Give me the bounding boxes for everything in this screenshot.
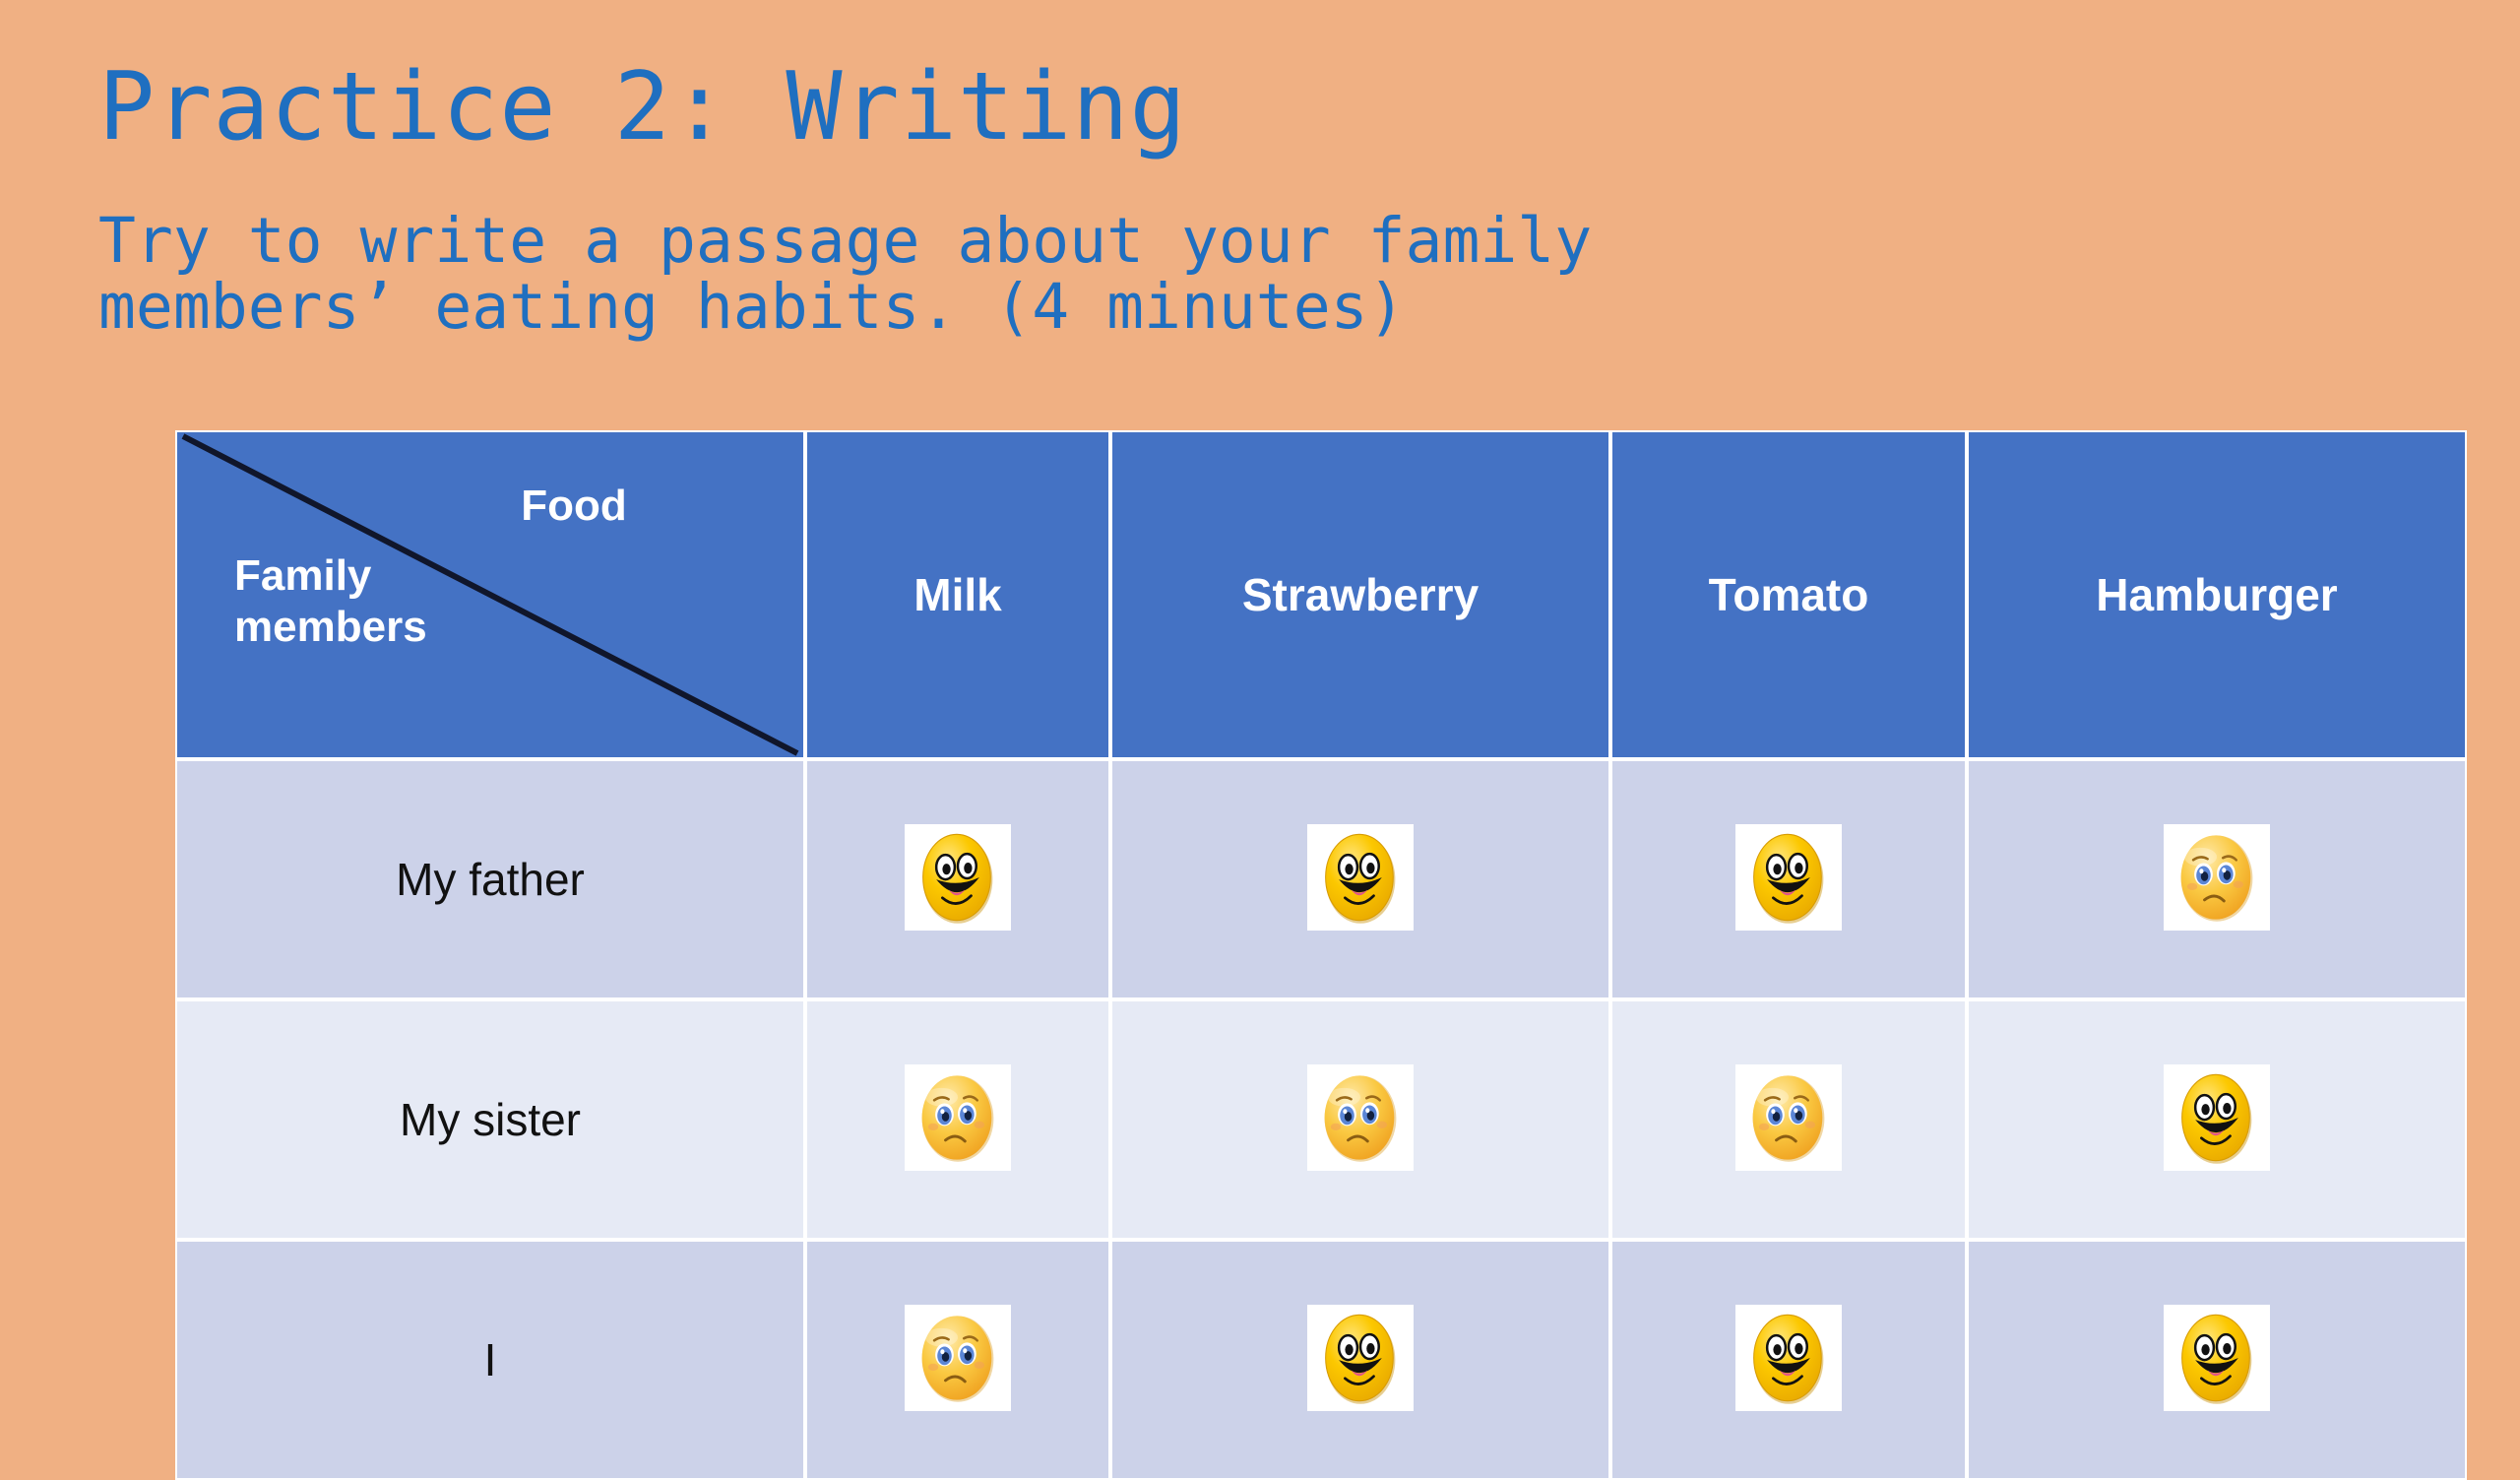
- corner-food-label: Food: [177, 482, 803, 531]
- table-row: My sister: [175, 999, 2467, 1240]
- table-row: I: [175, 1240, 2467, 1480]
- header-row: Food Family members Milk Strawberry Toma…: [175, 430, 2467, 759]
- column-header-tomato: Tomato: [1610, 430, 1967, 759]
- column-header-milk: Milk: [805, 430, 1110, 759]
- cell-father-hamburger: [1967, 759, 2467, 999]
- eating-habits-table-container: Food Family members Milk Strawberry Toma…: [175, 430, 2467, 1480]
- happy-face-icon: [2164, 1305, 2270, 1411]
- happy-face-icon: [1307, 1305, 1414, 1411]
- cell-i-hamburger: [1967, 1240, 2467, 1480]
- table-header: Food Family members Milk Strawberry Toma…: [175, 430, 2467, 759]
- row-label-my-father: My father: [175, 759, 805, 999]
- cell-father-strawberry: [1110, 759, 1610, 999]
- row-label-my-sister: My sister: [175, 999, 805, 1240]
- subtitle-line-2: members’ eating habits. (4 minutes): [98, 271, 1406, 343]
- happy-face-icon: [905, 824, 1011, 931]
- cell-i-milk: [805, 1240, 1110, 1480]
- sad-face-icon: [1735, 1064, 1842, 1171]
- subtitle-line-1: Try to write a passage about your family: [98, 205, 1592, 277]
- happy-face-icon: [1735, 1305, 1842, 1411]
- column-header-strawberry: Strawberry: [1110, 430, 1610, 759]
- corner-header-cell: Food Family members: [175, 430, 805, 759]
- cell-father-tomato: [1610, 759, 1967, 999]
- sad-face-icon: [2164, 824, 2270, 931]
- row-label-i: I: [175, 1240, 805, 1480]
- column-header-hamburger: Hamburger: [1967, 430, 2467, 759]
- sad-face-icon: [905, 1064, 1011, 1171]
- cell-sister-hamburger: [1967, 999, 2467, 1240]
- eating-habits-table: Food Family members Milk Strawberry Toma…: [175, 430, 2467, 1480]
- corner-family-label: Family members: [234, 550, 427, 653]
- cell-father-milk: [805, 759, 1110, 999]
- happy-face-icon: [1735, 824, 1842, 931]
- cell-sister-tomato: [1610, 999, 1967, 1240]
- sad-face-icon: [1307, 1064, 1414, 1171]
- happy-face-icon: [1307, 824, 1414, 931]
- cell-sister-strawberry: [1110, 999, 1610, 1240]
- cell-i-strawberry: [1110, 1240, 1610, 1480]
- page-title: Practice 2: Writing: [98, 61, 1187, 155]
- sad-face-icon: [905, 1305, 1011, 1411]
- table-body: My father My sister I: [175, 759, 2467, 1480]
- page-subtitle: Try to write a passage about your family…: [98, 209, 1592, 341]
- cell-sister-milk: [805, 999, 1110, 1240]
- happy-face-icon: [2164, 1064, 2270, 1171]
- table-row: My father: [175, 759, 2467, 999]
- cell-i-tomato: [1610, 1240, 1967, 1480]
